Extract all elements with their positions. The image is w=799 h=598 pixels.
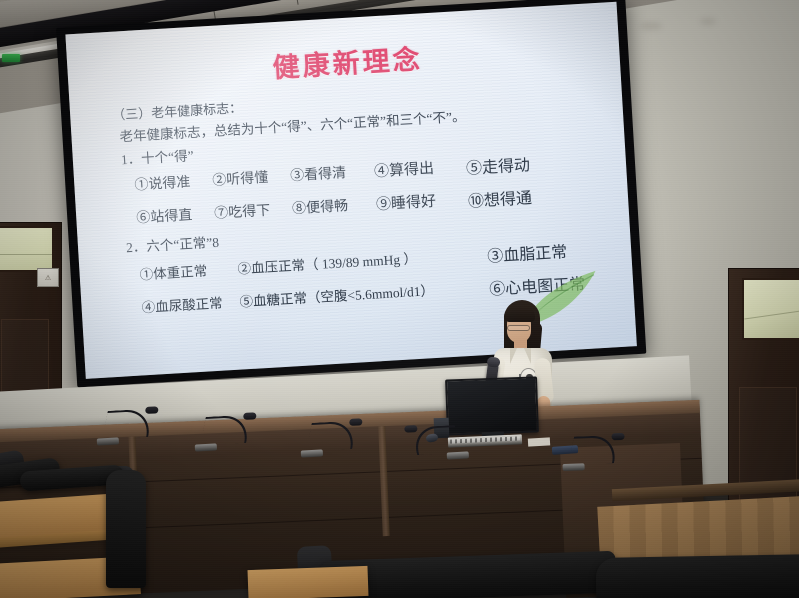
list-item: ⑨睡得好 <box>375 188 468 217</box>
collar-left <box>510 348 517 364</box>
list-item: ⑦吃得下 <box>214 198 293 227</box>
wall-plate-glyph: ⚠ <box>45 274 51 282</box>
list-item: ③血脂正常 <box>486 238 567 267</box>
list-item: ⑤血糖正常（空腹<5.6mmol/d1） <box>239 275 490 314</box>
list-item: ②血压正常（ 139/89 mmHg ） <box>237 242 488 281</box>
gooseneck-microphone[interactable] <box>193 408 255 451</box>
list-item: ⑩想得通 <box>467 184 532 212</box>
list-item: ②听得懂 <box>212 165 291 194</box>
lecture-hall-photo: ⚠ 健康新理念 （三）老年健康标志： 老年健康标志，总结为十个“得”、六个“正常… <box>0 0 799 598</box>
wall-mark <box>640 22 662 30</box>
gooseneck-microphone[interactable] <box>299 414 361 457</box>
list-item: ⑥站得直 <box>136 203 215 232</box>
list-item: ④算得出 <box>373 155 466 184</box>
gooseneck-microphone[interactable] <box>561 429 622 471</box>
wall-mark <box>700 18 716 25</box>
collar-right <box>524 348 531 364</box>
paper-note <box>528 437 550 446</box>
gooseneck-microphone[interactable] <box>95 402 157 445</box>
audience-desk-right <box>248 566 369 598</box>
chair-back-tall <box>106 470 146 588</box>
hair-fringe <box>504 306 535 322</box>
list-item: ①体重正常 <box>139 257 238 287</box>
wall-warning-plate: ⚠ <box>37 268 59 287</box>
right-door-window <box>742 278 799 340</box>
gooseneck-microphone[interactable] <box>407 418 469 461</box>
left-door-window <box>0 226 54 272</box>
exit-sign-icon <box>2 54 20 62</box>
list-item: ⑥心电图正常 <box>488 270 585 300</box>
chair-back-row <box>596 554 799 598</box>
glasses-icon <box>507 325 530 331</box>
list-item: ③看得清 <box>290 160 375 189</box>
list-item: ④血尿酸正常 <box>141 290 240 320</box>
list-item: ①说得准 <box>134 170 213 199</box>
list-item: ⑤走得动 <box>465 151 530 179</box>
list-item: ⑧便得畅 <box>292 193 377 222</box>
